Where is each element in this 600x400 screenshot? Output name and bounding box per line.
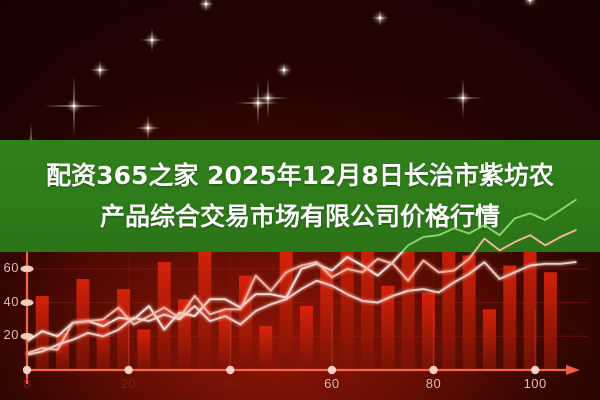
line-series-over-banner (27, 200, 576, 342)
chart-lines-over-banner (0, 0, 600, 400)
line-series-over-banner (27, 230, 576, 353)
line-series-over-banner (27, 262, 576, 355)
chart-image: 20406080100020406080100 配资365之家 2025年12月… (0, 0, 600, 400)
